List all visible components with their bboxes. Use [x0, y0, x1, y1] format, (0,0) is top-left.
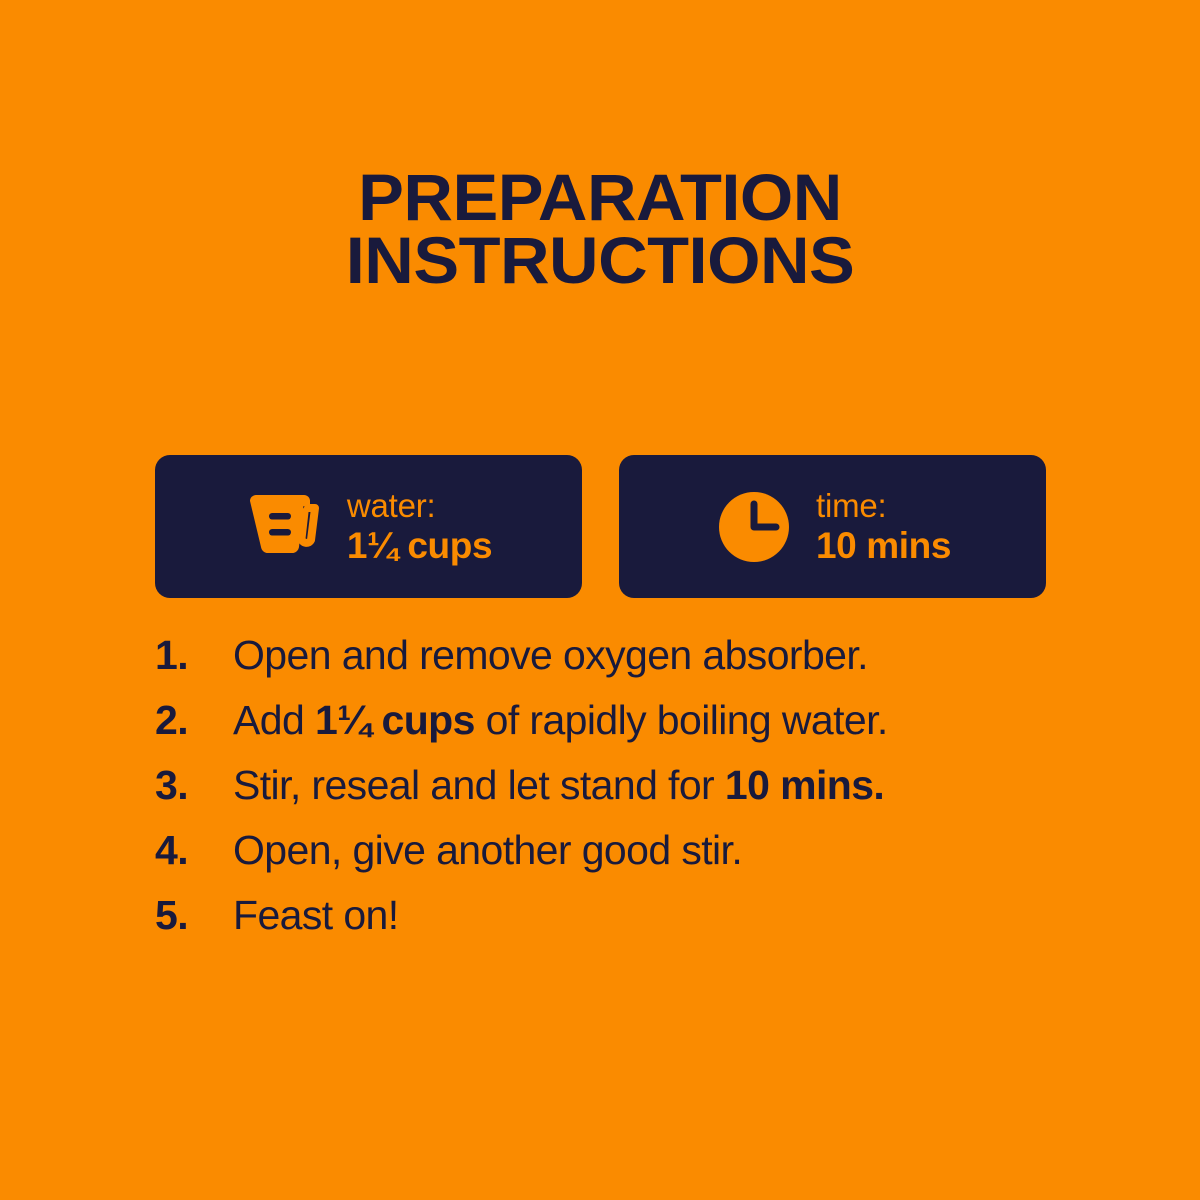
- step-text-emphasis: 10 mins.: [725, 762, 884, 808]
- badge-row: water: 1¼ cups time: 10 mins: [155, 455, 1046, 598]
- list-item: 3. Stir, reseal and let stand for 10 min…: [155, 762, 1155, 827]
- step-text-emphasis: 1¼ cups: [315, 697, 475, 743]
- clock-icon: [714, 487, 794, 567]
- steps-list: 1. Open and remove oxygen absorber. 2. A…: [155, 632, 1155, 957]
- step-text: Feast on!: [233, 892, 1155, 939]
- time-badge-label: time:: [816, 489, 951, 522]
- water-badge-card: water: 1¼ cups: [155, 455, 582, 598]
- measuring-cup-icon: [245, 487, 325, 567]
- page-title: PREPARATION INSTRUCTIONS: [0, 166, 1200, 292]
- step-number: 2.: [155, 697, 233, 744]
- preparation-instructions-panel: PREPARATION INSTRUCTIONS water: 1¼ cups: [0, 0, 1200, 1200]
- water-badge-label: water:: [347, 489, 492, 522]
- list-item: 4. Open, give another good stir.: [155, 827, 1155, 892]
- list-item: 1. Open and remove oxygen absorber.: [155, 632, 1155, 697]
- step-text-before: Add: [233, 697, 315, 743]
- step-text-after: of rapidly boiling water.: [475, 697, 888, 743]
- step-text-before: Feast on!: [233, 892, 399, 938]
- time-badge-card: time: 10 mins: [619, 455, 1046, 598]
- step-text-before: Stir, reseal and let stand for: [233, 762, 725, 808]
- step-number: 1.: [155, 632, 233, 679]
- step-text: Add 1¼ cups of rapidly boiling water.: [233, 697, 1155, 744]
- step-text-before: Open and remove oxygen absorber.: [233, 632, 868, 678]
- step-text: Stir, reseal and let stand for 10 mins.: [233, 762, 1155, 809]
- water-badge-value: 1¼ cups: [347, 527, 492, 564]
- step-text-before: Open, give another good stir.: [233, 827, 742, 873]
- page-title-line-2: INSTRUCTIONS: [0, 229, 1200, 292]
- step-text: Open, give another good stir.: [233, 827, 1155, 874]
- time-badge-value: 10 mins: [816, 527, 951, 564]
- step-text: Open and remove oxygen absorber.: [233, 632, 1155, 679]
- step-number: 3.: [155, 762, 233, 809]
- page-title-line-1: PREPARATION: [0, 166, 1200, 229]
- list-item: 5. Feast on!: [155, 892, 1155, 957]
- step-number: 5.: [155, 892, 233, 939]
- time-badge-text: time: 10 mins: [816, 489, 951, 564]
- water-badge-text: water: 1¼ cups: [347, 489, 492, 564]
- list-item: 2. Add 1¼ cups of rapidly boiling water.: [155, 697, 1155, 762]
- step-number: 4.: [155, 827, 233, 874]
